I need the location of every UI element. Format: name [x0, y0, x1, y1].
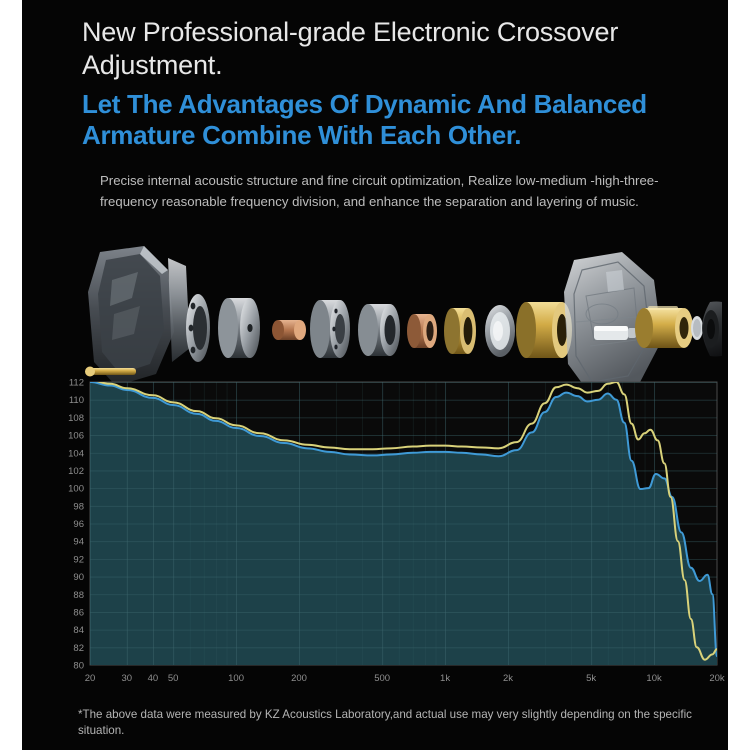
y-tick-label: 82 — [73, 643, 84, 654]
y-tick-label: 98 — [73, 501, 84, 512]
x-tick-label: 2k — [503, 673, 513, 684]
y-tick-label: 90 — [73, 572, 84, 583]
product-card: New Professional-grade Electronic Crosso… — [22, 0, 728, 750]
y-tick-label: 80 — [73, 661, 84, 672]
x-tick-label: 200 — [291, 673, 307, 684]
x-tick-label: 1k — [440, 673, 450, 684]
page-subtitle: Let The Advantages Of Dynamic And Balanc… — [82, 89, 722, 151]
frequency-response-chart: 8082848688909294969810010210410610811011… — [40, 376, 728, 692]
exploded-view-earphone-assembly — [82, 236, 722, 396]
x-axis-labels: 203040501002005001k2k5k10k20k — [85, 673, 725, 684]
x-tick-label: 5k — [586, 673, 596, 684]
y-tick-label: 106 — [68, 431, 84, 442]
measurement-disclaimer: *The above data were measured by KZ Acou… — [78, 707, 718, 739]
x-tick-label: 30 — [122, 673, 133, 684]
gold-nozzle — [635, 306, 693, 348]
y-axis-labels: 8082848688909294969810010210410610811011… — [68, 378, 84, 672]
y-tick-label: 104 — [68, 448, 84, 459]
product-detail-page: New Professional-grade Electronic Crosso… — [0, 0, 750, 750]
description-paragraph: Precise internal acoustic structure and … — [100, 170, 700, 212]
white-tube-connector — [594, 326, 636, 340]
page-title: New Professional-grade Electronic Crosso… — [82, 16, 712, 82]
y-tick-label: 110 — [69, 395, 84, 406]
y-tick-label: 94 — [73, 537, 84, 548]
y-tick-label: 88 — [73, 590, 84, 601]
x-tick-label: 10k — [646, 673, 662, 684]
x-tick-label: 50 — [168, 673, 179, 684]
mesh-filter — [691, 316, 703, 340]
y-tick-label: 108 — [68, 413, 84, 424]
y-tick-label: 86 — [73, 607, 84, 618]
y-tick-label: 102 — [68, 466, 84, 477]
y-tick-label: 112 — [69, 378, 84, 389]
y-tick-label: 84 — [73, 625, 84, 636]
x-tick-label: 20 — [85, 673, 96, 684]
y-tick-label: 96 — [73, 519, 84, 530]
x-tick-label: 40 — [148, 673, 159, 684]
x-tick-label: 500 — [374, 673, 390, 684]
x-tick-label: 20k — [709, 673, 725, 684]
y-tick-label: 100 — [68, 484, 84, 495]
x-tick-label: 100 — [228, 673, 244, 684]
ear-tip — [702, 302, 722, 357]
y-tick-label: 92 — [73, 554, 84, 565]
